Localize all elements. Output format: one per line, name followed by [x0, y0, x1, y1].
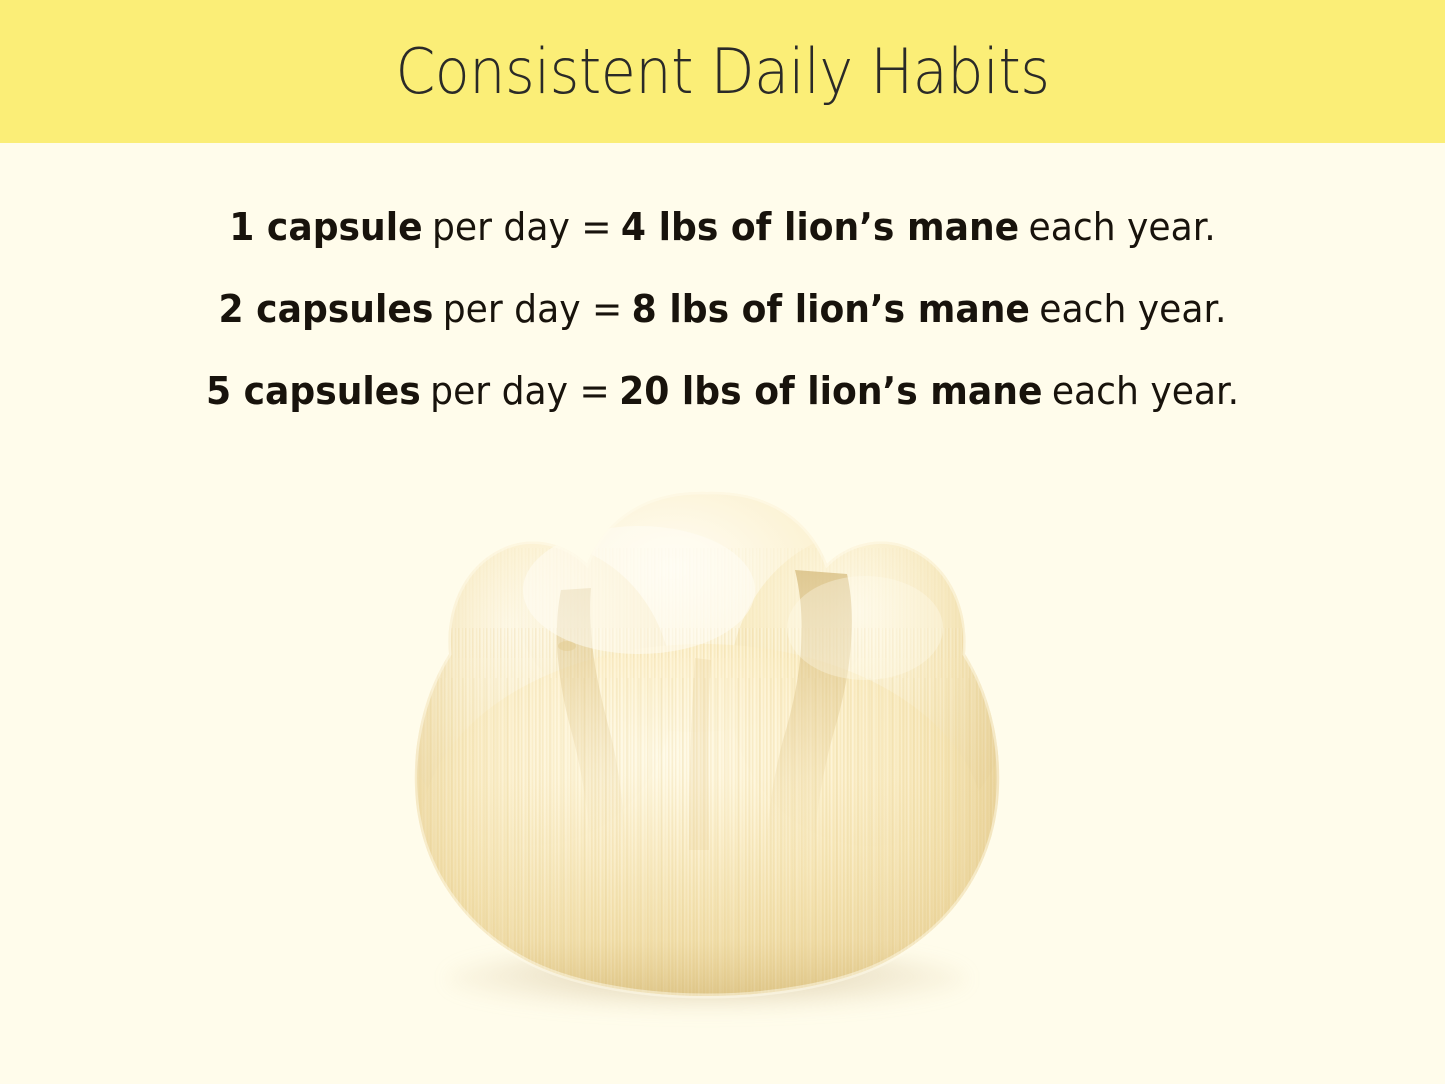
statement-line: 1 capsuleper day =4 lbs of lion’s maneea… [36, 186, 1409, 268]
statement-list: 1 capsuleper day =4 lbs of lion’s maneea… [0, 186, 1445, 432]
statement-amount: 4 lbs of lion’s mane [621, 208, 1019, 246]
statement-dose: 2 capsules [218, 290, 433, 328]
photo-stage [395, 478, 1020, 1008]
statement-line: 5 capsulesper day =20 lbs of lion’s mane… [36, 350, 1409, 432]
header-band: Consistent Daily Habits [0, 0, 1445, 143]
slide-canvas: Consistent Daily Habits 1 capsuleper day… [0, 0, 1445, 1084]
statement-dose: 5 capsules [206, 372, 421, 410]
mushroom-illustration [395, 478, 1020, 1003]
statement-amount: 20 lbs of lion’s mane [619, 372, 1042, 410]
statement-amount: 8 lbs of lion’s mane [632, 290, 1030, 328]
statement-dose: 1 capsule [229, 208, 422, 246]
statement-tail: each year. [1039, 290, 1226, 328]
statement-middle: per day = [443, 290, 623, 328]
statement-line: 2 capsulesper day =8 lbs of lion’s manee… [36, 268, 1409, 350]
statement-tail: each year. [1029, 208, 1216, 246]
lions-mane-photo [395, 478, 1020, 1008]
statement-middle: per day = [432, 208, 612, 246]
statement-middle: per day = [430, 372, 610, 410]
page-title: Consistent Daily Habits [395, 41, 1049, 103]
statement-tail: each year. [1052, 372, 1239, 410]
mushroom-svg [395, 478, 1020, 1003]
